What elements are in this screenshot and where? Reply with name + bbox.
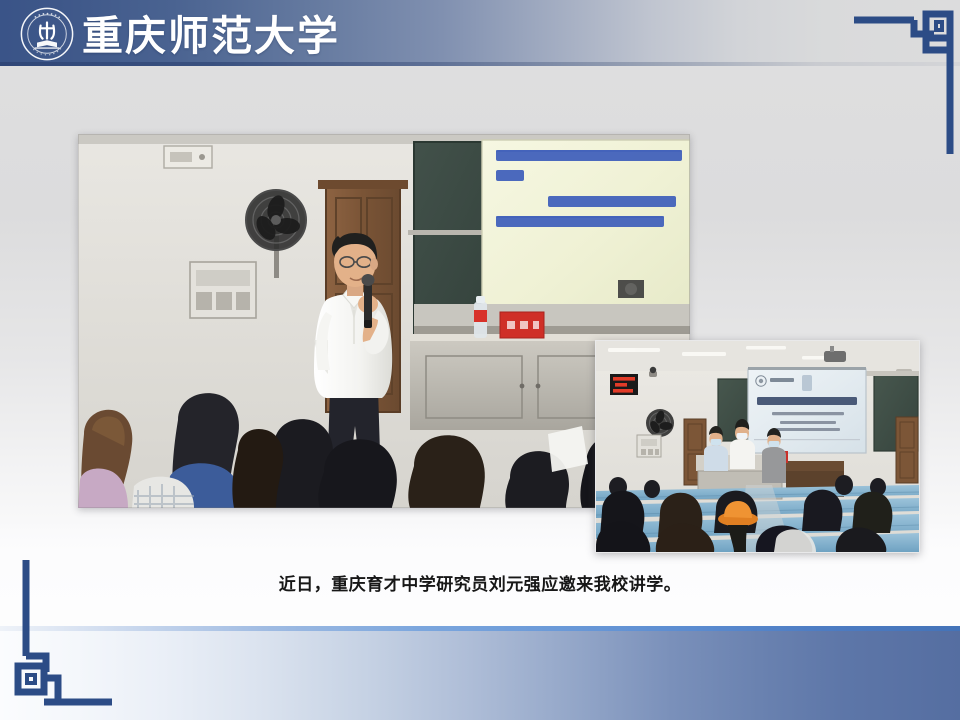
- presentation-slide: 重庆师范大学: [0, 0, 960, 720]
- university-name: 重庆师范大学: [82, 6, 340, 58]
- chinese-fret-corner-ornament-icon: [852, 0, 960, 156]
- slide-caption: 近日，重庆育才中学研究员刘元强应邀来我校讲学。: [0, 570, 960, 595]
- university-seal-icon: [20, 7, 74, 61]
- lecture-photo-inset: [595, 340, 920, 553]
- footer-band: [0, 631, 960, 720]
- chinese-fret-corner-ornament-mirrored-icon: [12, 560, 116, 712]
- header-divider: [0, 62, 960, 66]
